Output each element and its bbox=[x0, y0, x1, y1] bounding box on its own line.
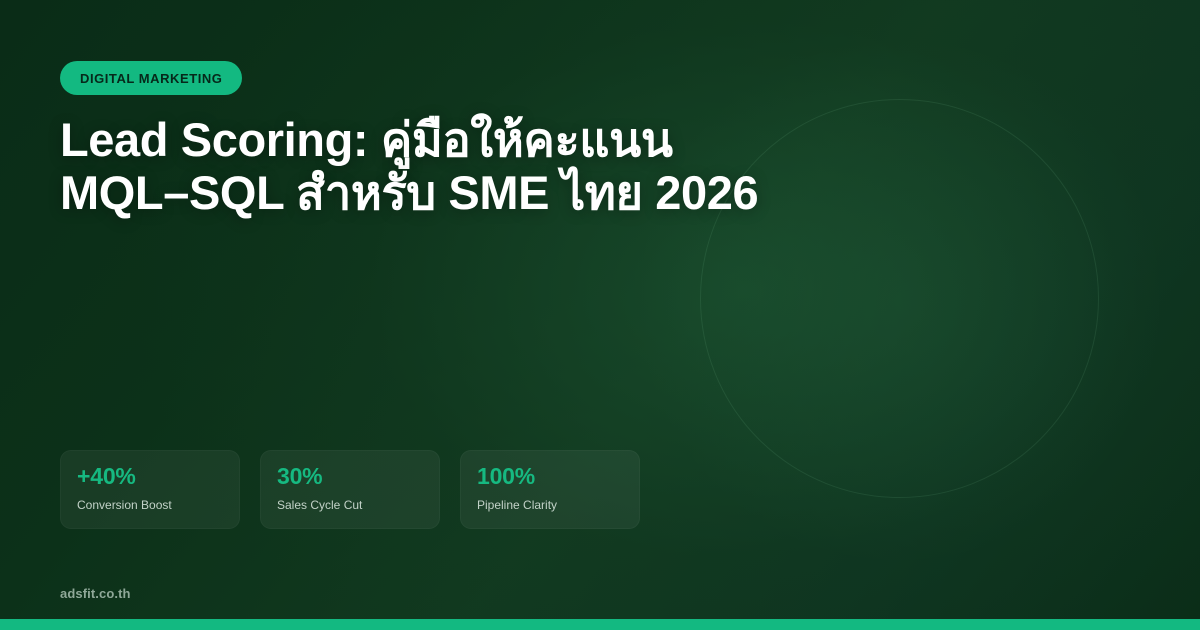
stat-card-pipeline-clarity: 100% Pipeline Clarity bbox=[460, 450, 640, 529]
stat-card-conversion-boost: +40% Conversion Boost bbox=[60, 450, 240, 529]
stat-value: +40% bbox=[77, 463, 223, 489]
stat-label: Conversion Boost bbox=[77, 498, 223, 513]
stat-card-sales-cycle-cut: 30% Sales Cycle Cut bbox=[260, 450, 440, 529]
bottom-accent-bar bbox=[0, 619, 1200, 630]
page-title: Lead Scoring: คู่มือให้คะแนน MQL–SQL สำห… bbox=[60, 113, 760, 219]
stat-value: 100% bbox=[477, 463, 623, 489]
category-badge: DIGITAL MARKETING bbox=[60, 61, 242, 95]
stat-label: Pipeline Clarity bbox=[477, 498, 623, 513]
stat-label: Sales Cycle Cut bbox=[277, 498, 423, 513]
stats-row: +40% Conversion Boost 30% Sales Cycle Cu… bbox=[60, 450, 640, 529]
og-share-card: DIGITAL MARKETING Lead Scoring: คู่มือให… bbox=[0, 0, 1200, 630]
site-domain: adsfit.co.th bbox=[60, 586, 131, 601]
stat-value: 30% bbox=[277, 463, 423, 489]
